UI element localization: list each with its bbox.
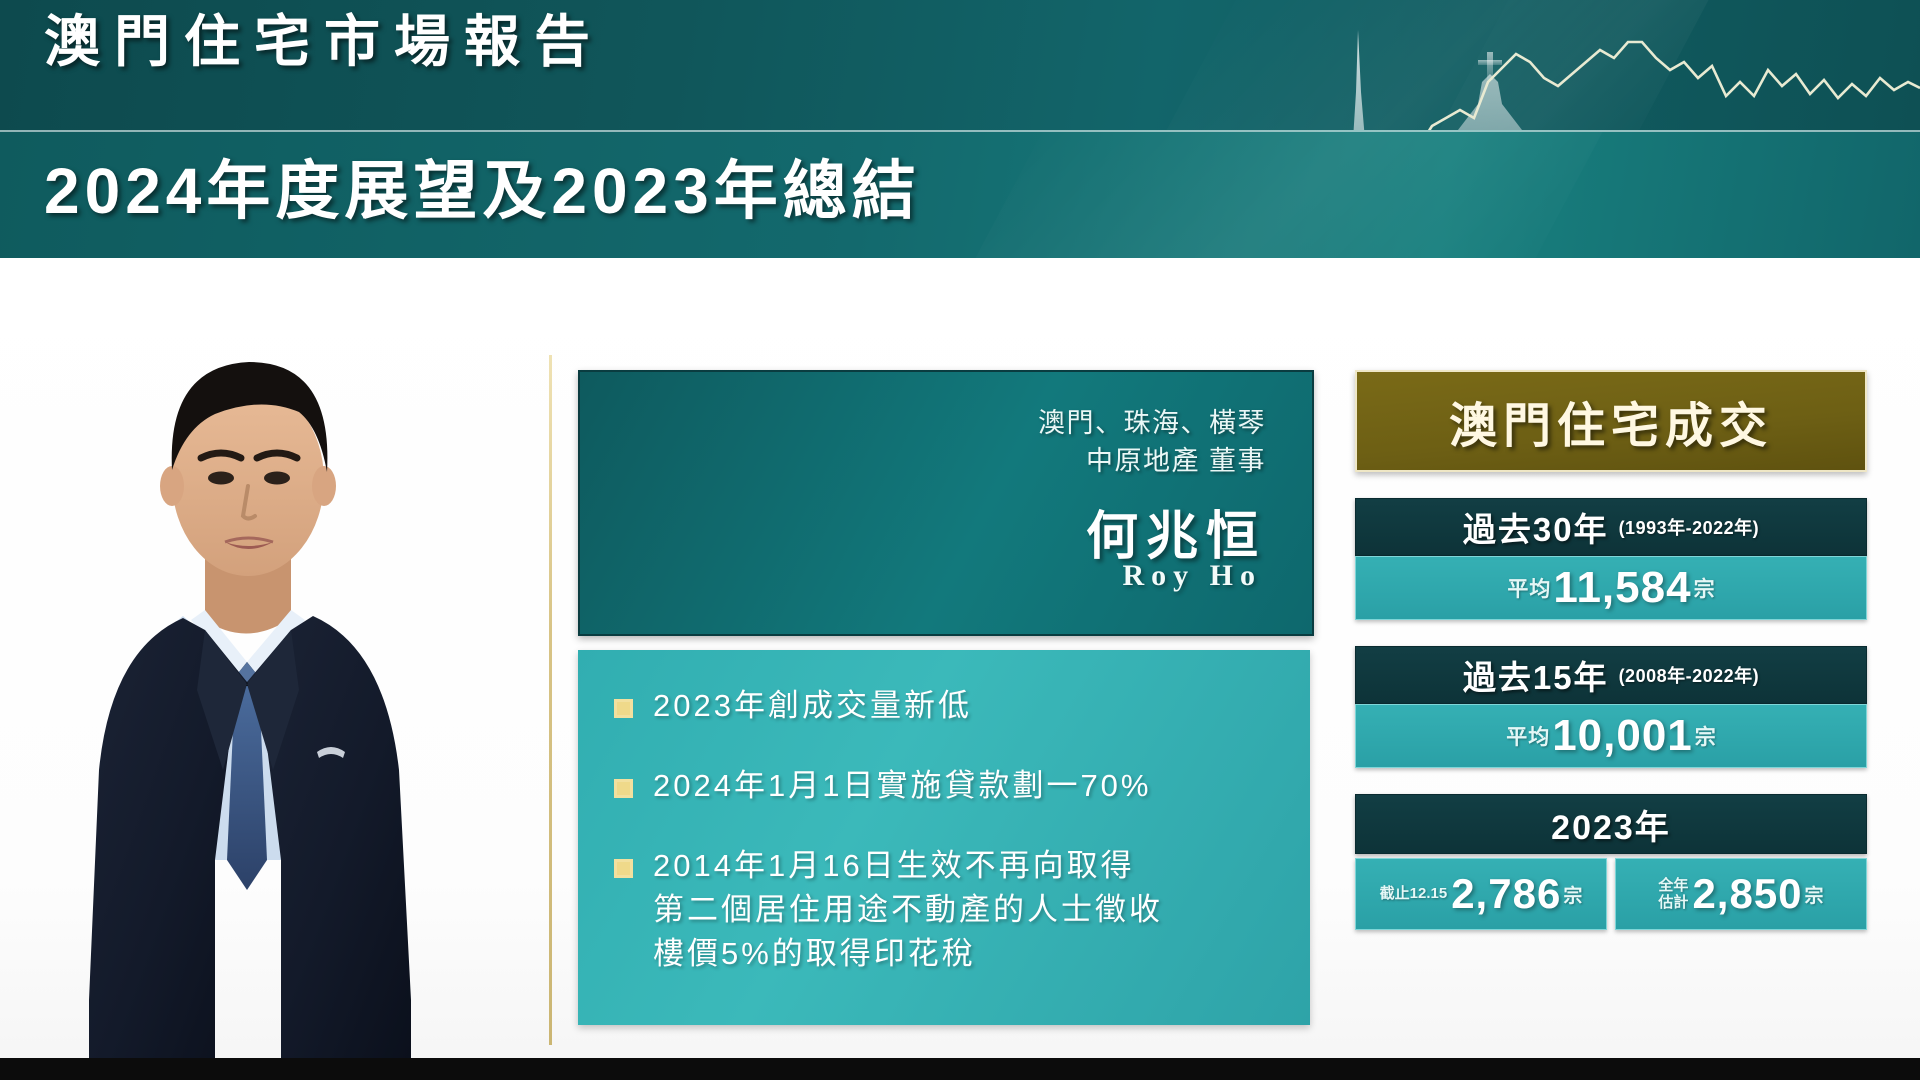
list-item: 2024年1月1日實施貸款劃一70% <box>578 764 1310 808</box>
stats-panel: 澳門住宅成交 過去30年 (1993年-2022年) 平均 11,584 宗 過… <box>1355 370 1867 930</box>
stat-cell-unit: 宗 <box>1805 881 1824 908</box>
stat-cell-number: 2,850 <box>1692 870 1802 918</box>
stat-value-unit: 宗 <box>1694 573 1715 603</box>
list-item-label: 2024年1月1日實施貸款劃一70% <box>653 764 1152 808</box>
slide-subtitle-bar: 2024年度展望及2023年總結 <box>0 130 1920 258</box>
stat-value-unit: 宗 <box>1695 721 1716 751</box>
stat-label: 過去15年 (2008年-2022年) <box>1355 646 1867 704</box>
stats-panel-heading-label: 澳門住宅成交 <box>1449 386 1773 456</box>
gold-vertical-divider <box>549 355 552 1045</box>
stat-cell-ytd: 截止12.15 2,786 宗 <box>1355 858 1607 930</box>
square-bullet-icon <box>614 779 633 798</box>
stat-group-15-years: 過去15年 (2008年-2022年) 平均 10,001 宗 <box>1355 646 1867 768</box>
speaker-card: 澳門、珠海、橫琴 中原地產 董事 何兆恒 Roy Ho <box>578 370 1314 636</box>
stat-value: 平均 10,001 宗 <box>1355 704 1867 768</box>
stat-cell-forecast: 全年 估計 2,850 宗 <box>1615 858 1867 930</box>
page-subtitle: 2024年度展望及2023年總結 <box>44 148 921 234</box>
list-item: 2023年創成交量新低 <box>578 684 1310 728</box>
stat-group-2023: 2023年 截止12.15 2,786 宗 全年 估計 2,850 宗 <box>1355 794 1867 930</box>
letterbox-bottom-bar <box>0 1058 1920 1080</box>
stat-label-year-value: 2023年 <box>1551 800 1671 849</box>
stat-group-30-years: 過去30年 (1993年-2022年) 平均 11,584 宗 <box>1355 498 1867 620</box>
page-title: 澳門住宅市場報告 <box>44 14 604 70</box>
key-points-card: 2023年創成交量新低 2024年1月1日實施貸款劃一70% 2014年1月16… <box>578 650 1310 1025</box>
speaker-organization: 澳門、珠海、橫琴 中原地產 董事 <box>1038 404 1266 481</box>
stat-label-period: 過去15年 <box>1463 651 1609 699</box>
stat-label-period: 過去30年 <box>1463 503 1609 551</box>
list-item-label: 2023年創成交量新低 <box>653 684 972 728</box>
stat-value-number: 10,001 <box>1552 711 1693 761</box>
stat-cell-caption: 全年 估計 <box>1658 877 1688 912</box>
list-item: 2014年1月16日生效不再向取得 第二個居住用途不動產的人士徵收 樓價5%的取… <box>578 844 1310 976</box>
speaker-portrait <box>55 300 440 1060</box>
stat-label-range: (2008年-2022年) <box>1619 662 1760 688</box>
stat-cell-caption: 截止12.15 <box>1380 885 1448 902</box>
stat-label: 過去30年 (1993年-2022年) <box>1355 498 1867 556</box>
presentation-slide: 澳門住宅市場報告 2024年度展望及2023年總結 <box>0 0 1920 1080</box>
stat-cell-unit: 宗 <box>1563 881 1582 908</box>
stat-value: 平均 11,584 宗 <box>1355 556 1867 620</box>
square-bullet-icon <box>614 699 633 718</box>
speaker-name-english: Roy Ho <box>1123 559 1263 593</box>
stat-value-prefix: 平均 <box>1506 721 1550 751</box>
square-bullet-icon <box>614 859 633 878</box>
year-split-row: 截止12.15 2,786 宗 全年 估計 2,850 宗 <box>1355 858 1867 930</box>
subbar-sheen-decoration <box>926 130 1635 258</box>
speaker-org-line-1: 澳門、珠海、橫琴 <box>1038 404 1266 442</box>
stats-panel-heading: 澳門住宅成交 <box>1355 370 1867 472</box>
list-item-label: 2014年1月16日生效不再向取得 第二個居住用途不動產的人士徵收 樓價5%的取… <box>653 844 1163 976</box>
speaker-org-line-2: 中原地產 董事 <box>1038 442 1266 480</box>
stat-cell-number: 2,786 <box>1451 870 1561 918</box>
stat-label-range: (1993年-2022年) <box>1619 514 1760 540</box>
stat-value-number: 11,584 <box>1553 563 1691 613</box>
speaker-name-chinese: 何兆恒 <box>1086 494 1266 569</box>
stat-label-year: 2023年 <box>1355 794 1867 854</box>
stat-value-prefix: 平均 <box>1507 573 1551 603</box>
